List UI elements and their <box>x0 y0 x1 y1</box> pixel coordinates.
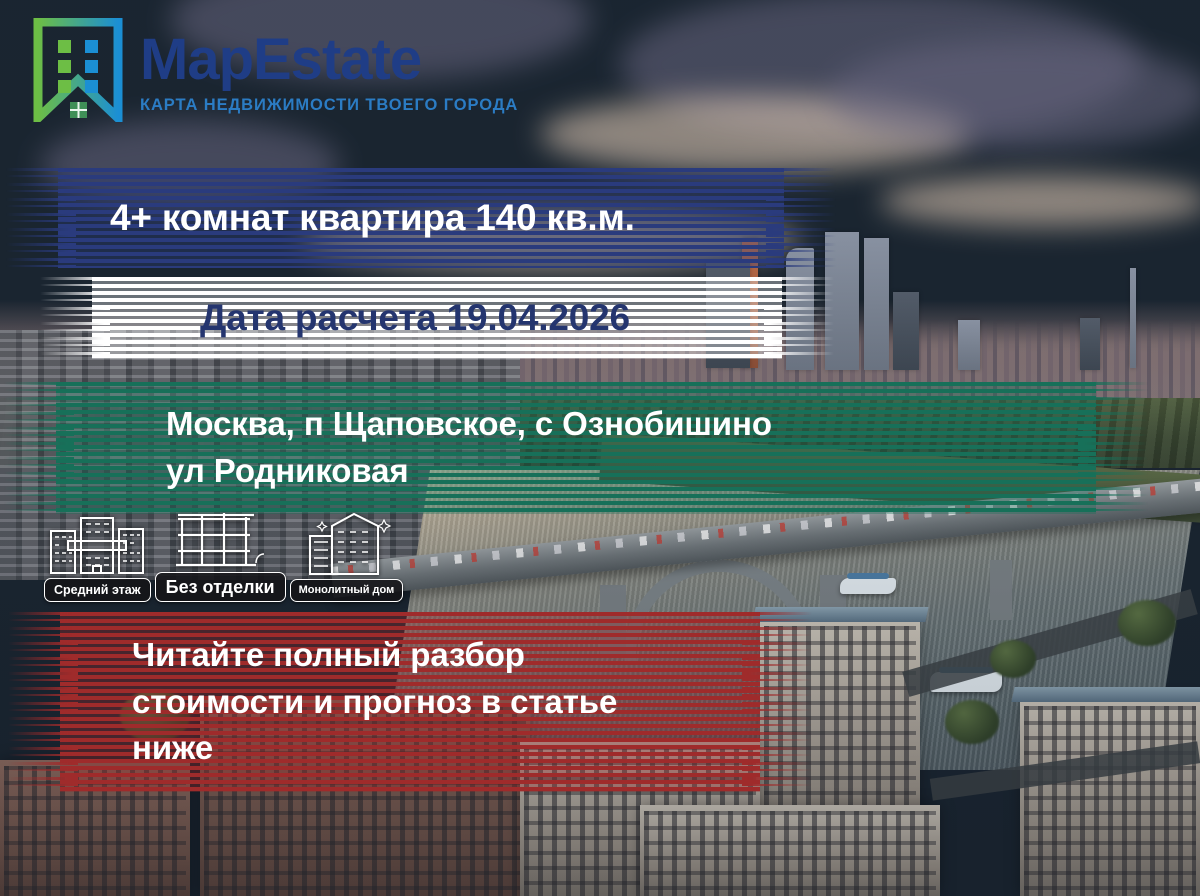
bare-frame-icon <box>172 505 268 569</box>
mid-floor-buildings-icon <box>48 513 146 575</box>
date-banner-text: Дата расчета 19.04.2026 <box>92 297 782 339</box>
address-line-2: ул Родниковая <box>166 448 1096 495</box>
cta-line-3: ниже <box>132 725 760 772</box>
feature-mid-floor[interactable]: Средний этаж <box>44 513 151 603</box>
address-line-1: Москва, п Щаповское, с Ознобишино <box>166 401 1096 448</box>
feature-badges: Средний этаж Без отделки <box>44 512 374 602</box>
feature-bare-finish[interactable]: Без отделки <box>155 505 286 602</box>
feature-mid-floor-label: Средний этаж <box>44 578 151 603</box>
property-banner: 4+ комнат квартира 140 кв.м. <box>58 168 784 268</box>
cta-line-2: стоимости и прогноз в статье <box>132 679 760 726</box>
brand-name: MapEstate <box>140 31 518 89</box>
monolithic-tower-icon <box>296 510 396 576</box>
date-banner: Дата расчета 19.04.2026 <box>92 277 782 359</box>
feature-bare-finish-label: Без отделки <box>155 572 286 602</box>
feature-monolithic-label: Монолитный дом <box>290 579 404 602</box>
bookmark-building-icon <box>30 18 126 127</box>
brand-tagline: КАРТА НЕДВИЖИМОСТИ ТВОЕГО ГОРОДА <box>140 97 518 114</box>
brand-logo[interactable]: MapEstate КАРТА НЕДВИЖИМОСТИ ТВОЕГО ГОРО… <box>30 18 518 127</box>
feature-monolithic[interactable]: Монолитный дом <box>290 510 404 602</box>
property-banner-text: 4+ комнат квартира 140 кв.м. <box>58 197 784 239</box>
cta-banner[interactable]: Читайте полный разбор стоимости и прогно… <box>60 612 760 792</box>
cta-line-1: Читайте полный разбор <box>132 632 760 679</box>
address-banner: Москва, п Щаповское, с Ознобишино ул Род… <box>56 382 1096 514</box>
